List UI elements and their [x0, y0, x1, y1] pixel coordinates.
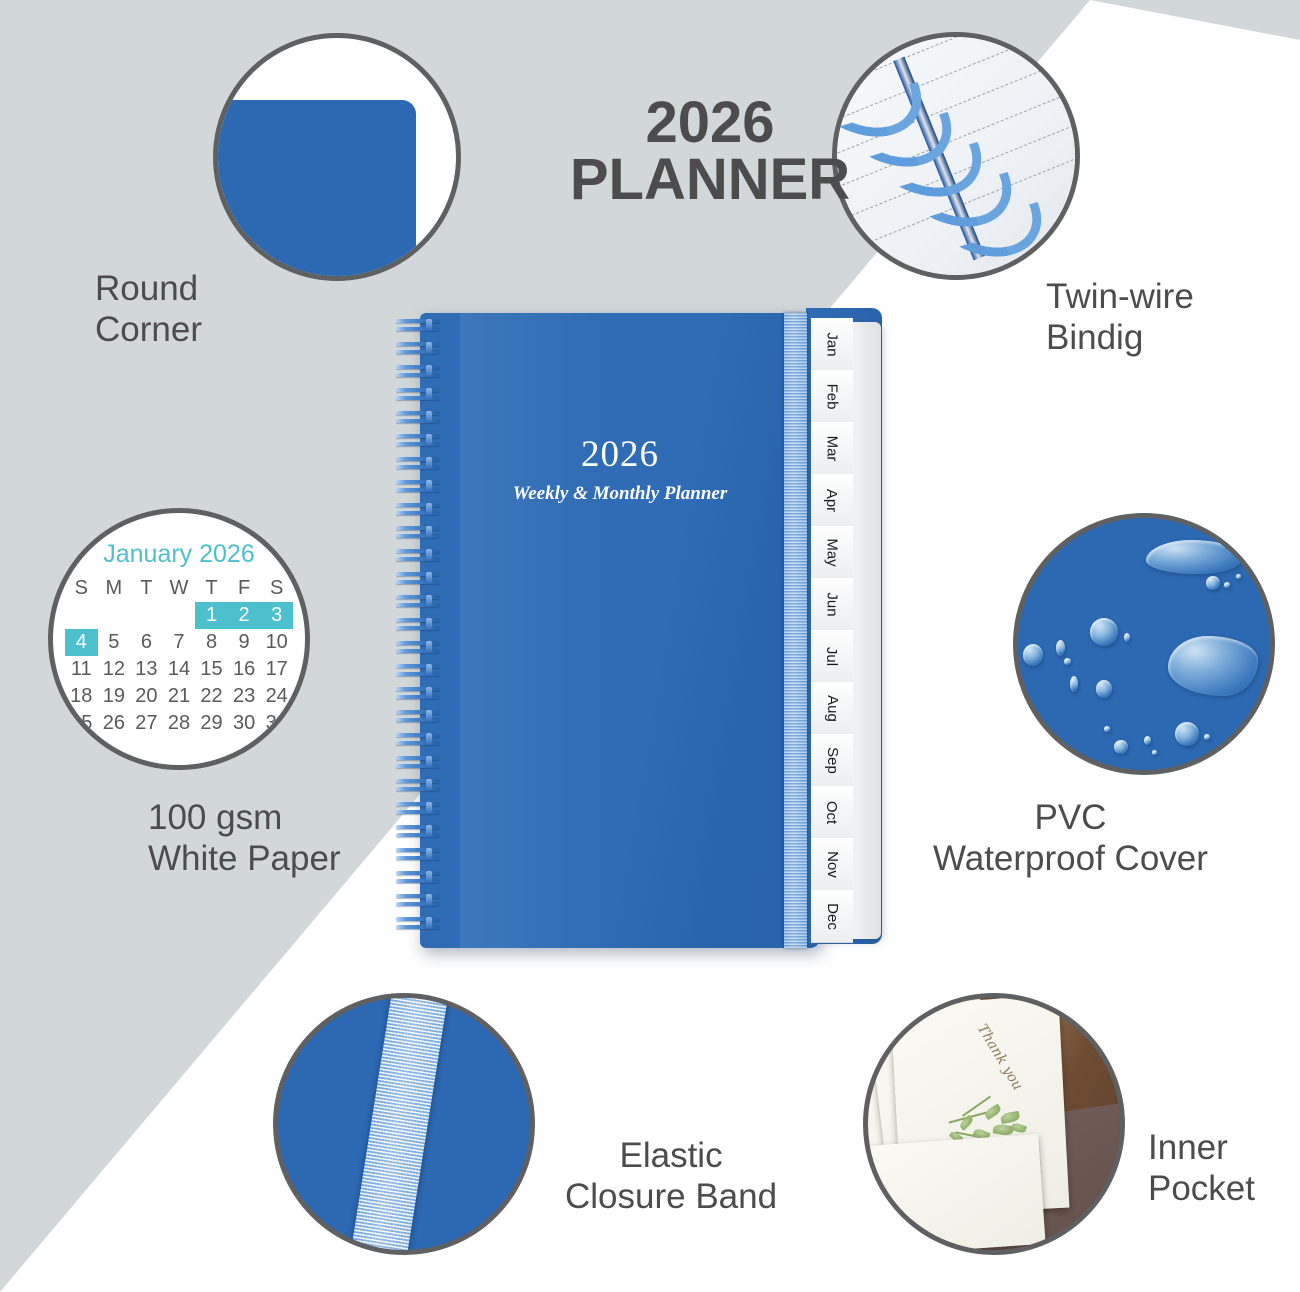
- calendar-day: [163, 602, 196, 629]
- feature-label-line2: Waterproof Cover: [933, 838, 1208, 879]
- calendar-day: 20: [130, 683, 163, 710]
- feature-circle-round-corner: [213, 33, 461, 281]
- month-tab-dec[interactable]: Dec: [811, 890, 853, 943]
- calendar-day: 29: [195, 710, 228, 737]
- wire-coil: [396, 433, 440, 450]
- calendar-day: 22: [195, 683, 228, 710]
- month-tab-feb[interactable]: Feb: [811, 370, 853, 423]
- page-title: 2026 PLANNER: [545, 95, 875, 209]
- calendar-day: [98, 602, 131, 629]
- calendar-day: 24: [260, 683, 293, 710]
- wire-coil: [396, 755, 440, 772]
- calendar-week-row: 25 26 27 28 29 30 31: [65, 710, 293, 737]
- wire-coil: [396, 778, 440, 795]
- month-tab-mar[interactable]: Mar: [811, 422, 853, 475]
- month-tab-label: Dec: [824, 903, 841, 930]
- feature-label-paper: 100 gsm White Paper: [148, 797, 341, 880]
- calendar-grid: S M T W T F S 1: [65, 575, 293, 737]
- feature-label-pvc: PVC Waterproof Cover: [933, 797, 1208, 880]
- calendar-title: January 2026: [65, 540, 293, 569]
- wire-coil: [396, 594, 440, 611]
- calendar-day: 6: [130, 629, 163, 656]
- month-tab-may[interactable]: May: [811, 526, 853, 579]
- feature-label-line2: Bindig: [1046, 317, 1194, 358]
- calendar-day: 12: [98, 656, 131, 683]
- month-tab-label: Jan: [824, 332, 841, 356]
- calendar-weekday-row: S M T W T F S: [65, 575, 293, 602]
- twin-wire-spiral-binding: [392, 318, 444, 946]
- month-tab-label: Sep: [823, 747, 840, 774]
- wire-coil: [396, 571, 440, 588]
- calendar-day: 31: [260, 710, 293, 737]
- feature-label-line2: Pocket: [1148, 1168, 1255, 1209]
- calendar-weekday: S: [260, 575, 293, 602]
- calendar-day: 25: [65, 710, 98, 737]
- wire-coil: [396, 686, 440, 703]
- wire-coil: [396, 548, 440, 565]
- calendar-day: 14: [163, 656, 196, 683]
- elastic-strap-icon: [343, 993, 453, 1255]
- title-year: 2026: [545, 95, 875, 152]
- month-tab-label: Aug: [823, 695, 840, 722]
- calendar-day: 26: [98, 710, 131, 737]
- calendar-weekday: T: [130, 575, 163, 602]
- cover-year: 2026: [420, 433, 820, 476]
- calendar-week-row: 11 12 13 14 15 16 17: [65, 656, 293, 683]
- calendar-day: 23: [228, 683, 261, 710]
- planner-product-image: Jan Feb Mar Apr May Jun Jul Aug Sep Oct …: [392, 300, 902, 960]
- rounded-corner-swatch-icon: [213, 100, 416, 281]
- month-tab-label: Mar: [824, 435, 841, 461]
- calendar-day: 27: [130, 710, 163, 737]
- cover-subtitle: Weekly & Monthly Planner: [420, 483, 820, 505]
- card-text: Thank you: [974, 1021, 1026, 1093]
- calendar-day: 11: [65, 656, 98, 683]
- calendar-day: 17: [260, 656, 293, 683]
- calendar-day: 16: [228, 656, 261, 683]
- water-droplets-icon: [1018, 518, 1270, 770]
- month-tab-jan[interactable]: Jan: [811, 318, 853, 371]
- feature-label-inner-pocket: Inner Pocket: [1148, 1127, 1255, 1210]
- calendar-week-row: 4 5 6 7 8 9 10: [65, 629, 293, 656]
- feature-label-line1: Round: [95, 268, 202, 309]
- calendar-day-highlighted: 4: [65, 629, 98, 656]
- calendar-weekday: F: [228, 575, 261, 602]
- month-tab-jul[interactable]: Jul: [811, 630, 853, 683]
- cover-title-block: 2026 Weekly & Monthly Planner: [420, 433, 820, 505]
- calendar-day: [130, 602, 163, 629]
- wire-coil: [396, 617, 440, 634]
- month-tab-label: Jul: [824, 646, 841, 665]
- calendar-day: 8: [195, 629, 228, 656]
- calendar-day: 18: [65, 683, 98, 710]
- feature-circle-paper: January 2026 S M T W T F S: [48, 508, 310, 770]
- wire-coil: [396, 410, 440, 427]
- calendar-day: 28: [163, 710, 196, 737]
- calendar-week-row: 18 19 20 21 22 23 24: [65, 683, 293, 710]
- calendar-day: 21: [163, 683, 196, 710]
- month-tab-label: Feb: [823, 383, 840, 409]
- feature-label-line1: Inner: [1148, 1127, 1255, 1168]
- wire-coil: [396, 479, 440, 496]
- feature-label-line1: 100 gsm: [148, 797, 341, 838]
- month-tab-label: Oct: [824, 800, 841, 823]
- monthly-calendar-icon: January 2026 S M T W T F S: [65, 540, 293, 737]
- feature-label-round-corner: Round Corner: [95, 268, 202, 351]
- wire-coil: [396, 387, 440, 404]
- month-tab-nov[interactable]: Nov: [811, 838, 853, 891]
- calendar-day-highlighted: 3: [260, 602, 293, 629]
- calendar-weekday: W: [163, 575, 196, 602]
- calendar-day: 5: [98, 629, 131, 656]
- wire-coil: [396, 870, 440, 887]
- feature-label-line1: Twin-wire: [1046, 276, 1194, 317]
- wire-coil: [396, 456, 440, 473]
- cover-gloss: [460, 313, 610, 948]
- wire-coil: [396, 663, 440, 680]
- wire-coil: [396, 824, 440, 841]
- wire-coil: [396, 318, 440, 335]
- month-tab-jun[interactable]: Jun: [811, 578, 853, 631]
- calendar-day: 10: [260, 629, 293, 656]
- book-front-cover: 2026 Weekly & Monthly Planner: [420, 313, 820, 948]
- month-tab-label: Apr: [824, 488, 841, 511]
- wire-coil: [396, 525, 440, 542]
- wire-coil: [396, 732, 440, 749]
- calendar-day: 30: [228, 710, 261, 737]
- calendar-week-row: 1 2 3: [65, 602, 293, 629]
- wire-coil: [396, 801, 440, 818]
- feature-label-line1: PVC: [933, 797, 1208, 838]
- wire-coil: [396, 847, 440, 864]
- month-tab-index: Jan Feb Mar Apr May Jun Jul Aug Sep Oct …: [811, 318, 883, 943]
- feature-circle-pvc: [1013, 513, 1275, 775]
- feature-label-twin-wire: Twin-wire Bindig: [1046, 276, 1194, 359]
- wire-coil: [396, 893, 440, 910]
- title-word: PLANNER: [545, 152, 875, 209]
- calendar-day-highlighted: 1: [195, 602, 228, 629]
- calendar-day: 7: [163, 629, 196, 656]
- wire-coil: [396, 502, 440, 519]
- feature-circle-elastic: [273, 993, 535, 1255]
- calendar-day: 19: [98, 683, 131, 710]
- calendar-day: 9: [228, 629, 261, 656]
- month-tab-oct[interactable]: Oct: [811, 786, 853, 839]
- thank-you-cards-icon: Thank you: [868, 998, 1120, 1250]
- wire-coil: [396, 341, 440, 358]
- elastic-closure-band: [784, 313, 807, 948]
- calendar-day: 15: [195, 656, 228, 683]
- calendar-weekday: M: [98, 575, 131, 602]
- wire-coil: [396, 640, 440, 657]
- calendar-day: 13: [130, 656, 163, 683]
- month-tab-label: Nov: [824, 851, 841, 878]
- month-tab-aug[interactable]: Aug: [811, 682, 853, 735]
- wire-coil: [396, 916, 440, 933]
- feature-label-line2: White Paper: [148, 838, 341, 879]
- feature-circle-inner-pocket: Thank you: [863, 993, 1125, 1255]
- feature-label-line1: Elastic: [565, 1135, 777, 1176]
- calendar-day: [65, 602, 98, 629]
- feature-label-line2: Closure Band: [565, 1176, 777, 1217]
- month-tab-sep[interactable]: Sep: [811, 734, 853, 787]
- feature-label-line2: Corner: [95, 309, 202, 350]
- calendar-weekday: T: [195, 575, 228, 602]
- calendar-day-highlighted: 2: [228, 602, 261, 629]
- wire-coil: [396, 364, 440, 381]
- feature-label-elastic: Elastic Closure Band: [565, 1135, 777, 1218]
- month-tab-label: Jun: [824, 592, 841, 616]
- infographic-canvas: 2026 PLANNER Round Corner Twin-w: [0, 0, 1300, 1292]
- calendar-weekday: S: [65, 575, 98, 602]
- month-tab-label: May: [824, 538, 841, 566]
- month-tab-apr[interactable]: Apr: [811, 474, 853, 527]
- wire-coil: [396, 709, 440, 726]
